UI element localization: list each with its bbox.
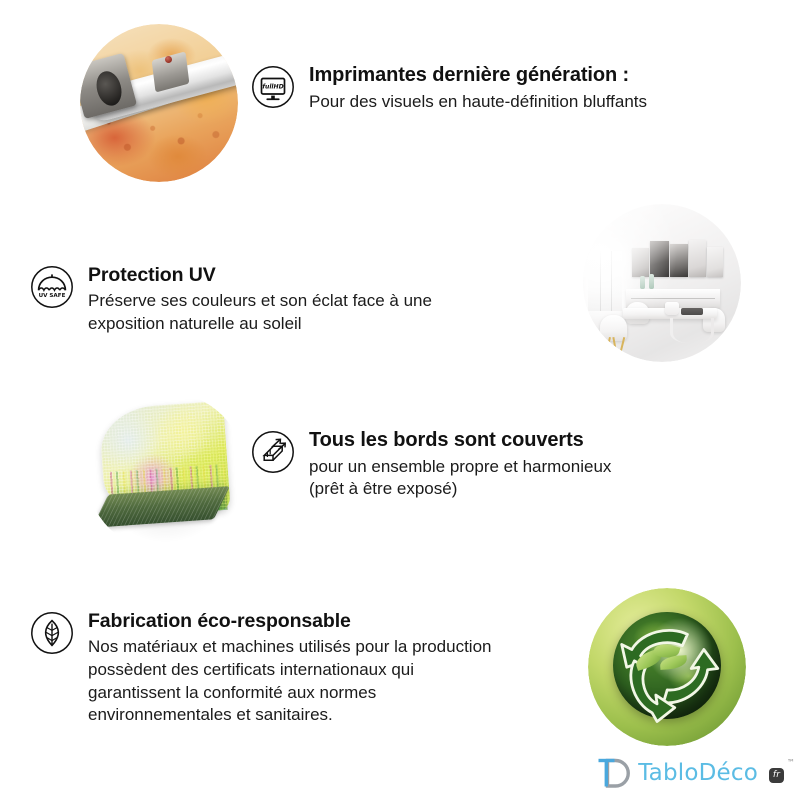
feature-desc-line: Nos matériaux et machines utilisés pour … <box>88 636 491 659</box>
feature-text-uv: Protection UV Préserve ses couleurs et s… <box>88 263 432 336</box>
roller-indicator-dot <box>165 56 172 63</box>
covered-edges-icon <box>251 430 295 474</box>
feature-text-eco: Fabrication éco-responsable Nos matériau… <box>88 609 491 727</box>
feature-desc-line: exposition naturelle au soleil <box>88 313 432 336</box>
tablodeco-logo[interactable]: TabloDéco™fr <box>595 756 784 790</box>
canvas-panel <box>707 247 723 277</box>
feature-desc-line: (prêt à être exposé) <box>309 478 611 501</box>
feature-desc-line: Préserve ses couleurs et son éclat face … <box>88 290 432 313</box>
chair-leg <box>605 337 611 356</box>
chair-leg <box>613 337 618 356</box>
feature-title-edges: Tous les bords sont couverts <box>309 429 611 453</box>
feature-block-uv: UV SAFE Protection UV Préserve ses coule… <box>30 263 432 336</box>
feature-title-print: Imprimantes dernière génération : <box>309 64 647 88</box>
fullhd-monitor-icon: fullHD <box>251 65 295 109</box>
uv-safe-umbrella-icon: UV SAFE <box>30 265 74 309</box>
feature-title-eco: Fabrication éco-responsable <box>88 610 491 633</box>
leaf-sprout <box>635 640 689 675</box>
feature-desc-edges: pour un ensemble propre et harmonieux (p… <box>309 456 611 502</box>
feature-desc-line: Pour des visuels en haute-définition blu… <box>309 91 647 114</box>
bright-dining-room-canvas-photo <box>583 204 741 362</box>
tablodeco-td-monogram <box>595 756 631 790</box>
eco-leaf-icon <box>30 611 74 655</box>
feature-text-edges: Tous les bords sont couverts pour un ens… <box>309 428 611 501</box>
domain-badge: fr <box>769 768 784 783</box>
table-tray <box>681 308 703 314</box>
chair-leg <box>619 337 626 356</box>
feature-block-edges: Tous les bords sont couverts pour un ens… <box>251 428 611 501</box>
canvas-corner-edge-photo <box>86 392 246 552</box>
feature-text-print: Imprimantes dernière génération : Pour d… <box>309 63 647 113</box>
svg-text:fullHD: fullHD <box>262 83 283 90</box>
trademark-symbol: ™ <box>787 759 795 767</box>
feature-desc-eco: Nos matériaux et machines utilisés pour … <box>88 636 491 727</box>
feature-desc-print: Pour des visuels en haute-définition blu… <box>309 91 647 114</box>
canvas-panel <box>689 240 706 277</box>
feature-title-uv: Protection UV <box>88 264 432 287</box>
feature-desc-line: garantissent la conformité aux normes <box>88 682 491 705</box>
logo-wordmark: TabloDéco™fr <box>638 762 784 785</box>
green-globe-recycling-photo <box>588 588 746 746</box>
printer-roller-world-map-photo <box>80 24 238 182</box>
infographic-page: fullHD Imprimantes dernière génération :… <box>0 0 800 800</box>
feature-desc-line: pour un ensemble propre et harmonieux <box>309 456 611 479</box>
feature-desc-uv: Préserve ses couleurs et son éclat face … <box>88 290 432 336</box>
feature-block-eco: Fabrication éco-responsable Nos matériau… <box>30 609 491 727</box>
feature-block-print: fullHD Imprimantes dernière génération :… <box>251 63 647 113</box>
chair-gold-legs <box>605 337 627 356</box>
feature-desc-line: possèdent des certificats internationaux… <box>88 659 491 682</box>
window-light-glow <box>583 204 678 337</box>
logo-brand-text: TabloDéco <box>638 760 758 786</box>
svg-text:UV SAFE: UV SAFE <box>39 293 66 299</box>
feature-desc-line: environnementales et sanitaires. <box>88 704 491 727</box>
